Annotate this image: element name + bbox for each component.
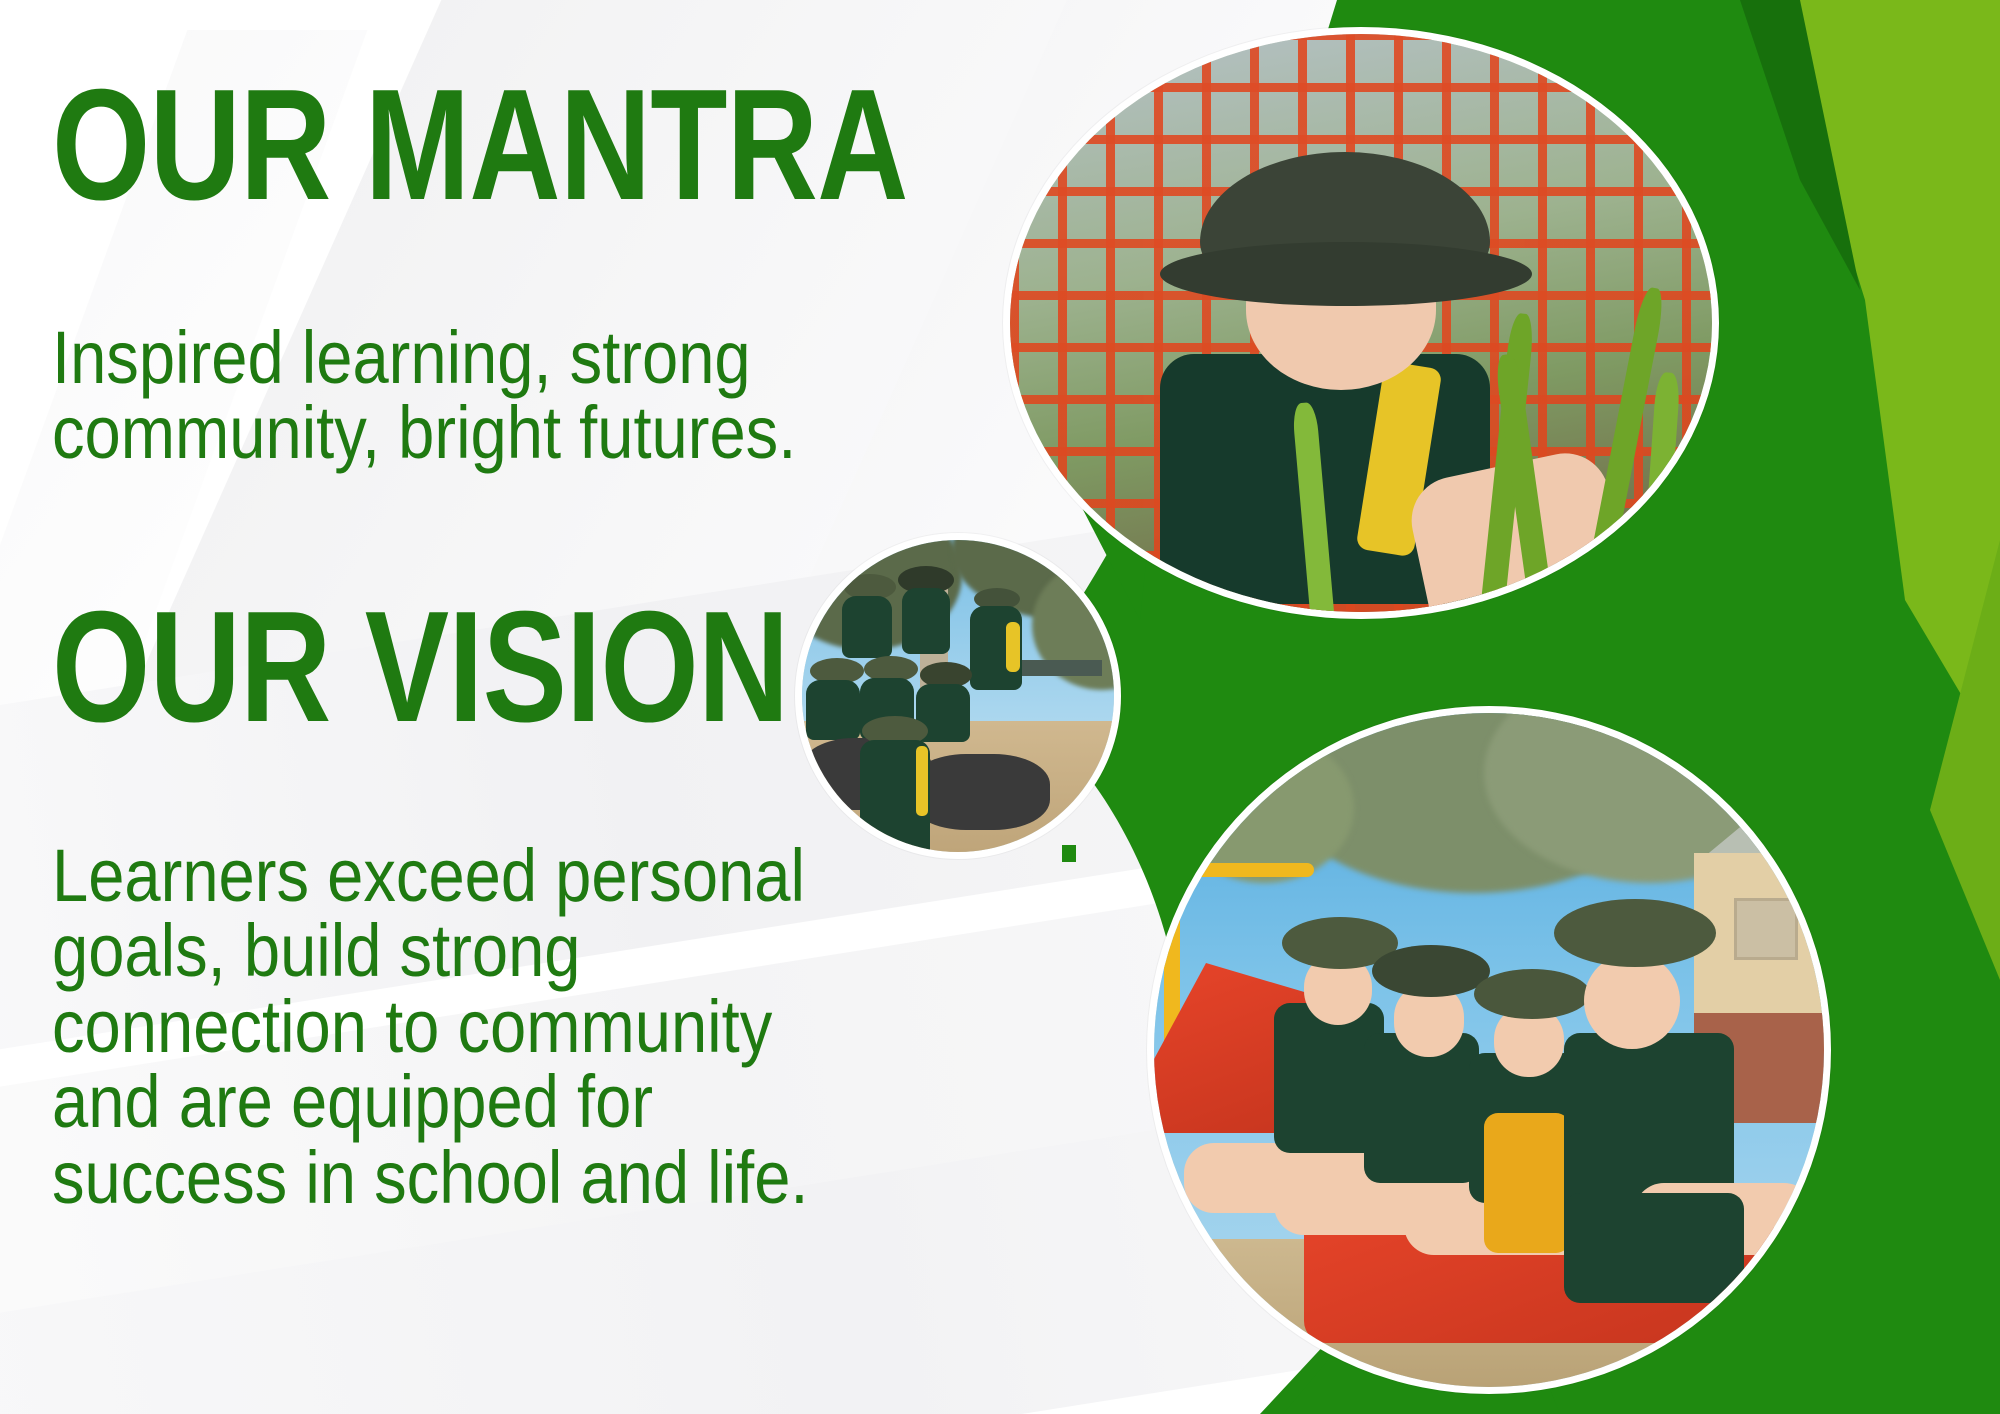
student-shorts-4 [1564, 1193, 1744, 1303]
photo-bottom-circle [1147, 706, 1831, 1394]
student-body-a [842, 596, 892, 658]
student-body-b [902, 588, 950, 654]
building-window [1734, 898, 1798, 960]
tree-canopy-3 [1174, 733, 1354, 883]
uniform-stripe-c [1006, 622, 1020, 672]
student-hat-2 [1372, 945, 1490, 997]
playground-frame-2 [1194, 863, 1314, 877]
student-hat-brim [1160, 242, 1532, 306]
student-hat-4 [1554, 899, 1716, 967]
heading-our-vision: OUR VISION [52, 600, 788, 736]
photo-top-scene [1010, 34, 1712, 612]
student-body-d [806, 680, 860, 740]
photo-middle-circle [795, 533, 1121, 859]
student-hat-3 [1474, 969, 1590, 1019]
heading-our-mantra: OUR MANTRA [52, 78, 908, 214]
photo-bottom-scene [1154, 713, 1824, 1387]
student-face-4 [1584, 953, 1680, 1049]
student-yellow-sleeve-3 [1484, 1113, 1570, 1253]
photo-top-circle [1003, 27, 1719, 619]
photo-middle-scene [802, 540, 1114, 852]
playground-tyre-2 [910, 754, 1050, 830]
body-our-mantra: Inspired learning, strong community, bri… [52, 320, 932, 471]
poster-canvas: OUR MANTRA Inspired learning, strong com… [0, 0, 2000, 1414]
body-our-vision: Learners exceed personal goals, build st… [52, 838, 932, 1215]
uniform-stripe-g [916, 746, 928, 816]
